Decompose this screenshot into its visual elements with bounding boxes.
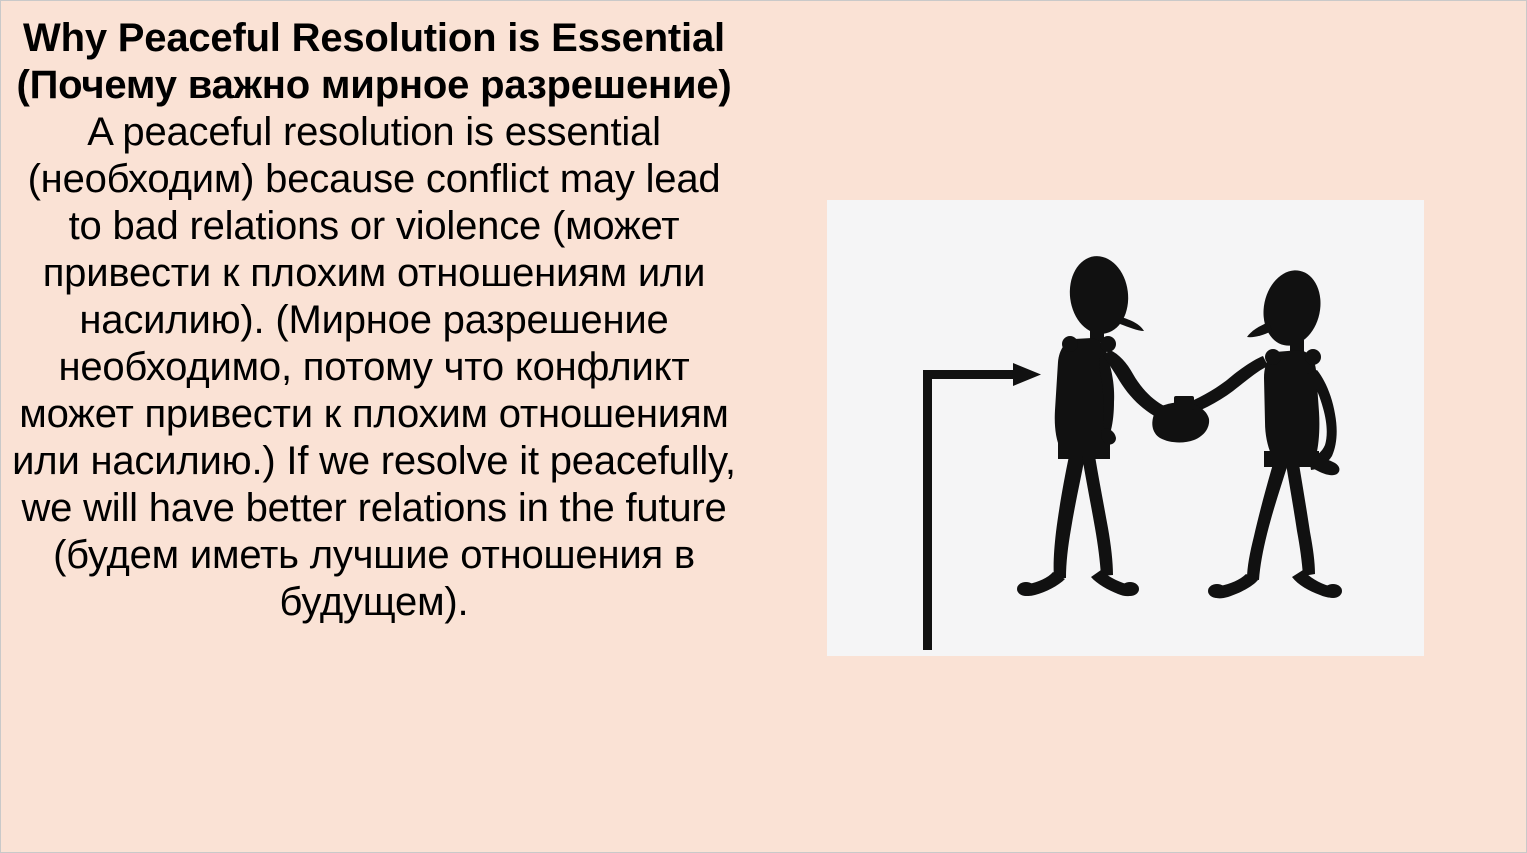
body-paragraph: A peaceful resolution is essential (необ… bbox=[9, 109, 739, 626]
slide-canvas: Why Peaceful Resolution is Essential (По… bbox=[0, 0, 1527, 853]
text-column: Why Peaceful Resolution is Essential (По… bbox=[9, 15, 739, 626]
arrow-pointer-icon bbox=[923, 363, 1041, 650]
illustration-panel bbox=[827, 200, 1424, 656]
right-figure bbox=[1182, 265, 1342, 598]
handshake-silhouette-illustration bbox=[827, 200, 1424, 656]
page-title: Why Peaceful Resolution is Essential (По… bbox=[9, 15, 739, 109]
